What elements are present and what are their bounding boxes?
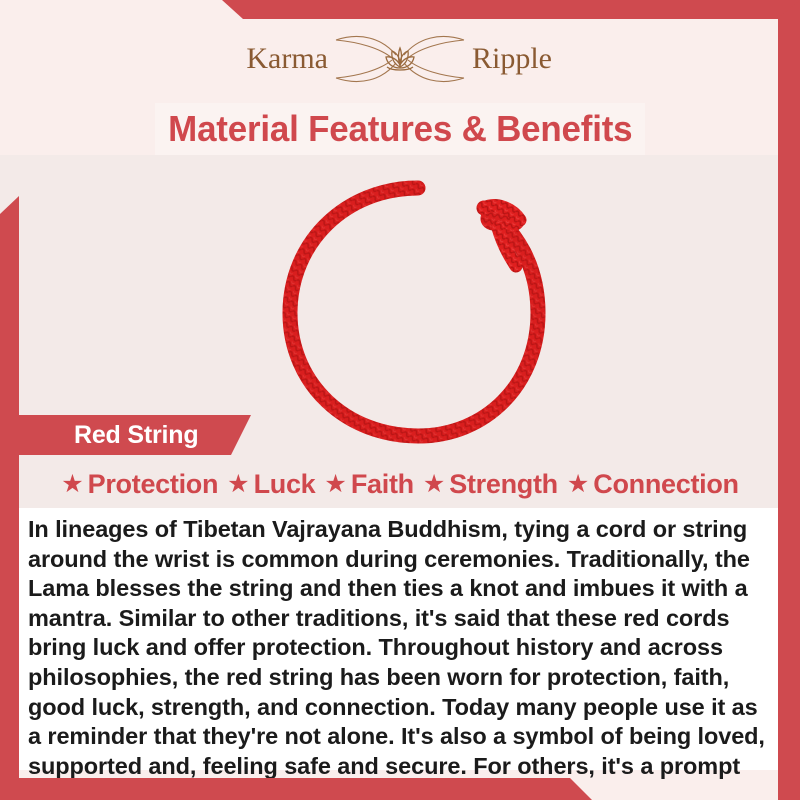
page-title-band: Material Features & Benefits bbox=[155, 103, 645, 155]
benefit-item-strength: ★ Strength bbox=[423, 469, 558, 500]
benefit-item-protection: ★ Protection bbox=[61, 469, 218, 500]
brand-logo: Karma Ripple bbox=[0, 28, 800, 90]
benefit-label: Protection bbox=[88, 469, 219, 500]
lotus-flower-icon bbox=[386, 48, 414, 70]
ribbon-label: Red String bbox=[74, 421, 198, 450]
benefit-label: Luck bbox=[254, 469, 316, 500]
benefit-item-faith: ★ Faith bbox=[324, 469, 413, 500]
benefit-label: Connection bbox=[593, 469, 739, 500]
star-icon: ★ bbox=[61, 472, 83, 497]
benefit-label: Faith bbox=[351, 469, 414, 500]
benefits-list: ★ Protection ★ Luck ★ Faith ★ Strength ★… bbox=[19, 464, 781, 504]
description-text: In lineages of Tibetan Vajrayana Buddhis… bbox=[18, 510, 782, 800]
bracelet-svg bbox=[270, 172, 570, 452]
logo-text-ripple: Ripple bbox=[472, 42, 552, 75]
frame-accent-left bbox=[0, 0, 19, 800]
star-icon: ★ bbox=[324, 472, 346, 497]
page-title: Material Features & Benefits bbox=[168, 108, 632, 150]
benefit-item-luck: ★ Luck bbox=[227, 469, 315, 500]
product-image-bracelet bbox=[270, 172, 570, 452]
logo-svg: Karma Ripple bbox=[240, 28, 560, 90]
ribbon-red-string: Red String bbox=[19, 415, 251, 455]
frame-accent-top bbox=[0, 0, 800, 19]
infographic-page: Karma Ripple Material Features & Benefit… bbox=[0, 0, 800, 800]
benefit-label: Strength bbox=[449, 469, 558, 500]
benefit-item-connection: ★ Connection bbox=[567, 469, 739, 500]
star-icon: ★ bbox=[227, 472, 249, 497]
star-icon: ★ bbox=[423, 472, 445, 497]
star-icon: ★ bbox=[567, 472, 589, 497]
description-panel: In lineages of Tibetan Vajrayana Buddhis… bbox=[18, 508, 782, 770]
frame-accent-right bbox=[778, 0, 800, 800]
logo-text-karma: Karma bbox=[246, 42, 328, 75]
